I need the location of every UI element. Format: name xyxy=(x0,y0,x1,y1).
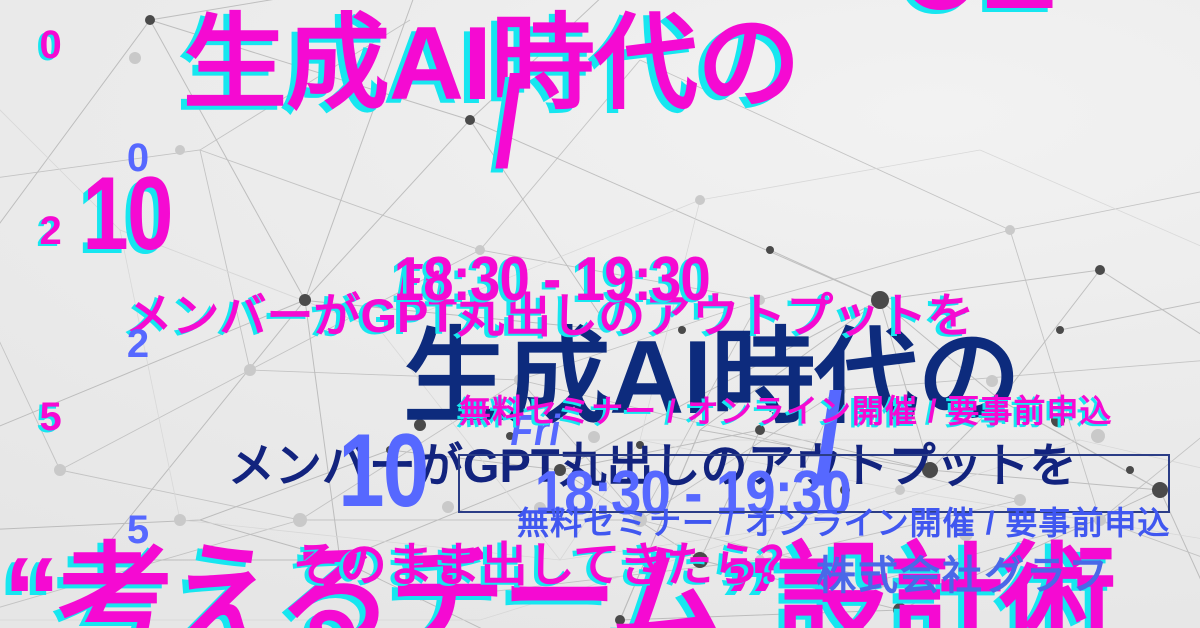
chroma-cyan-layer: 10 xyxy=(78,176,167,261)
info-box: 無料セミナー / オンライン開催 / 要事前申込 無料セミナー / オンライン開… xyxy=(458,454,1170,513)
chroma-magenta-layer: / xyxy=(495,71,522,176)
company-name: 株式会社グラフ xyxy=(816,543,1110,601)
chroma-magenta-layer: 2 xyxy=(40,213,62,250)
chroma-cyan-layer: 0 xyxy=(37,29,59,66)
chroma-cyan-layer: / xyxy=(490,75,517,180)
chroma-magenta-layer: 31 xyxy=(901,0,1054,21)
year-digit-0: 2 2 2 xyxy=(38,0,78,28)
chroma-magenta-layer: 0 xyxy=(40,27,62,64)
chroma-cyan-layer: 31 xyxy=(896,0,1049,25)
chroma-cyan-layer: 2 xyxy=(37,215,59,252)
year-digit-1: 0 0 0 xyxy=(38,28,78,214)
year-vertical: 2 2 2 0 0 0 2 2 2 5 5 5 xyxy=(38,0,78,586)
chroma-cyan-layer: 無料セミナー / オンライン開催 / 要事前申込 xyxy=(456,388,1109,434)
info-box-foreground: 無料セミナー / オンライン開催 / 要事前申込 xyxy=(517,505,1170,541)
month-text: 10 10 10 xyxy=(80,174,428,600)
year-digit-2: 2 2 2 xyxy=(38,214,78,400)
seminar-banner: 生成AI時代の 生成AI時代の 生成AI時代の “考えるチーム”設計術 “考える… xyxy=(0,0,1200,628)
chroma-cyan-layer: 18:30 - 19:30 xyxy=(390,246,706,317)
chroma-magenta-layer: 18:30 - 19:30 xyxy=(394,244,710,315)
chroma-magenta-layer: 10 xyxy=(82,172,171,257)
chroma-magenta-layer: 5 xyxy=(40,399,62,436)
year-digit-3: 5 5 5 xyxy=(38,400,78,586)
chroma-cyan-layer: 5 xyxy=(37,401,59,438)
chroma-magenta-layer: 無料セミナー / オンライン開催 / 要事前申込 xyxy=(459,386,1112,432)
